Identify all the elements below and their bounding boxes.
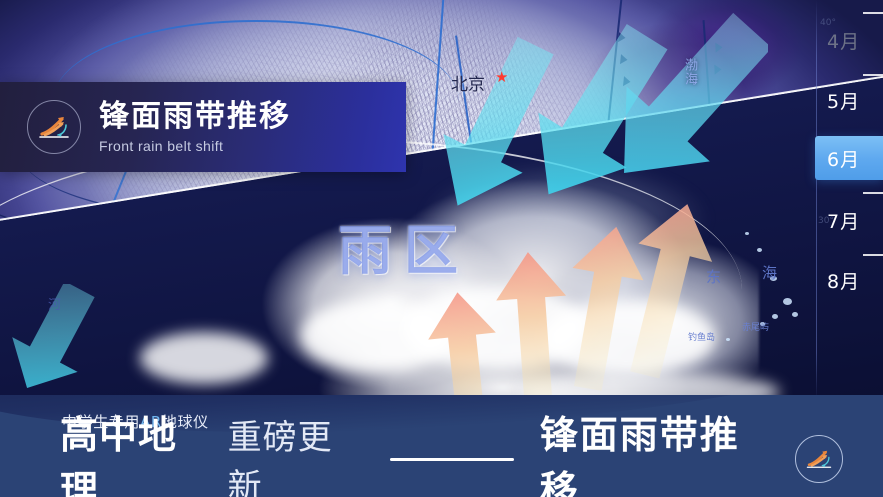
- month-label: 8月: [815, 267, 860, 294]
- island-dot: [745, 232, 749, 235]
- month-option-7[interactable]: 7月: [815, 198, 883, 242]
- promo-headline-row: 高中地理 重磅更新 锋面雨带推移: [60, 431, 843, 487]
- island-dot: [726, 338, 730, 341]
- promo-bottom-bar: 中学生专用AR地球仪 高中地理 重磅更新 锋面雨带推移: [0, 395, 883, 497]
- front-rain-belt-icon: [795, 435, 843, 483]
- month-option-6[interactable]: 6月: [815, 136, 883, 180]
- banner-text-block: 锋面雨带推移 Front rain belt shift: [99, 100, 291, 154]
- title-banner: 锋面雨带推移 Front rain belt shift: [0, 82, 406, 172]
- island-dot: [770, 276, 777, 281]
- month-option-5[interactable]: 5月: [815, 78, 883, 122]
- banner-title-zh: 锋面雨带推移: [99, 100, 291, 134]
- cold-air-arrow: [0, 284, 110, 404]
- banner-title-en: Front rain belt shift: [99, 138, 291, 154]
- promo-topic: 锋面雨带推移: [540, 404, 773, 497]
- month-timeline[interactable]: 4月 5月 6月 7月 8月: [815, 0, 883, 400]
- cold-air-arrow: [598, 4, 768, 214]
- island-dot: [783, 298, 792, 305]
- month-option-8[interactable]: 8月: [815, 258, 883, 302]
- promo-divider-rule: [390, 458, 514, 461]
- island-dot: [760, 322, 765, 326]
- promo-headline-light: 重磅更新: [228, 410, 364, 497]
- capital-star-marker: ★: [495, 72, 507, 84]
- month-option-4[interactable]: 4月: [815, 18, 883, 62]
- timeline-tick: [863, 254, 883, 256]
- cloud-puff: [140, 332, 268, 384]
- month-label: 4月: [815, 27, 860, 54]
- timeline-tick: [863, 192, 883, 194]
- island-dot: [757, 248, 762, 252]
- warm-air-arrow: [618, 200, 718, 380]
- island-dot: [772, 314, 778, 319]
- front-rain-belt-icon: [27, 100, 81, 154]
- timeline-tick: [863, 12, 883, 14]
- promo-headline-strong: 高中地理: [60, 404, 212, 497]
- month-label: 6月: [815, 145, 860, 172]
- month-label: 5月: [815, 87, 860, 114]
- timeline-tick: [863, 74, 883, 76]
- app-screen: 雨区 北京 ★ 渤海 东 海 钓鱼岛 赤尾屿 河 40° 30° 锋面雨带推移: [0, 0, 883, 497]
- island-dot: [792, 312, 798, 317]
- month-label: 7月: [815, 207, 860, 234]
